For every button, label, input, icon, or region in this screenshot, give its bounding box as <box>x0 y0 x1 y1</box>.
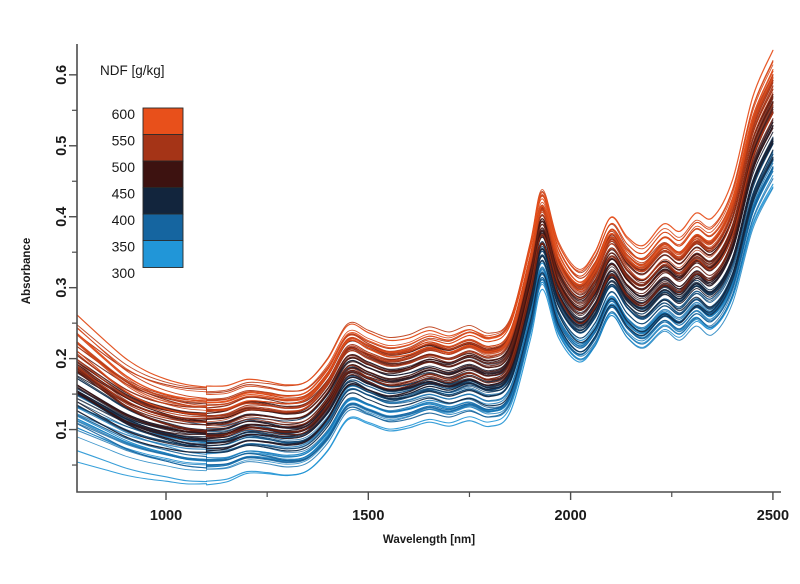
colorbar-legend: NDF [g/kg]600550500450400350300 <box>100 63 183 281</box>
colorbar-tick-label: 500 <box>112 159 136 175</box>
colorbar-band <box>143 135 183 162</box>
colorbar-tick-label: 550 <box>112 133 136 149</box>
spectra-figure: 10001500200025000.10.20.30.40.50.6Wavele… <box>0 0 800 584</box>
colorbar-tick-label: 350 <box>112 239 136 255</box>
x-tick-label: 1000 <box>150 508 182 524</box>
y-tick-label: 0.5 <box>54 136 70 156</box>
spectrum-curve <box>206 87 772 418</box>
x-tick-label: 2000 <box>554 508 586 524</box>
spectrum-curve <box>206 60 772 394</box>
colorbar-tick-label: 600 <box>112 106 136 122</box>
colorbar-band <box>143 161 183 188</box>
spectrum-curve <box>206 95 772 419</box>
spectra-plot: 10001500200025000.10.20.30.40.50.6Wavele… <box>0 0 800 584</box>
x-tick-label: 2500 <box>757 508 789 524</box>
colorbar-band <box>143 108 183 135</box>
spectrum-curve <box>206 122 772 430</box>
colorbar-band <box>143 241 183 268</box>
y-axis-title: Absorbance <box>21 238 33 304</box>
colorbar-title: NDF [g/kg] <box>100 63 165 78</box>
y-tick-label: 0.4 <box>54 207 70 227</box>
y-tick-label: 0.2 <box>54 349 70 369</box>
y-tick-label: 0.6 <box>54 65 70 85</box>
colorbar-tick-label: 300 <box>112 265 136 281</box>
colorbar-band <box>143 214 183 241</box>
x-axis-title: Wavelength [nm] <box>383 534 475 546</box>
x-tick-label: 1500 <box>352 508 384 524</box>
colorbar-band <box>143 188 183 215</box>
colorbar-tick-label: 450 <box>112 186 136 202</box>
colorbar-tick-label: 400 <box>112 212 136 228</box>
y-tick-label: 0.3 <box>54 278 70 298</box>
y-tick-label: 0.1 <box>54 419 70 439</box>
